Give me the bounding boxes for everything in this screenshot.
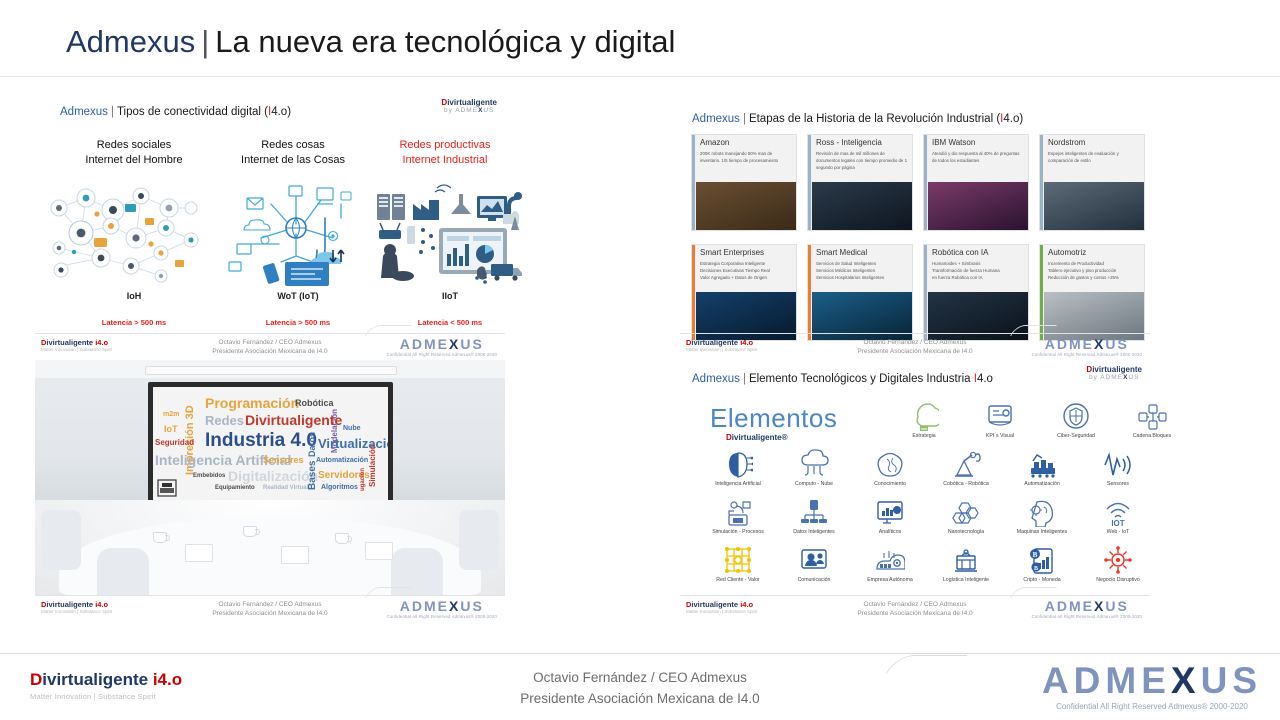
svg-text:IOT: IOT bbox=[1111, 519, 1124, 527]
header-brand: Admexus bbox=[60, 106, 108, 118]
analytics-monitor-icon bbox=[858, 497, 922, 527]
footer-notch bbox=[1010, 325, 1057, 336]
footer-author: Octavio Fernández / CEO Admexus Presiden… bbox=[857, 338, 972, 357]
chair-right bbox=[459, 510, 499, 570]
column-title-iiot: Redes productivas Internet Industrial bbox=[365, 138, 525, 168]
header-text: Etapas de la Historia de la Revolución I… bbox=[749, 113, 1000, 125]
footer-author-line1: Octavio Fernández / CEO Admexus bbox=[520, 668, 759, 689]
col1-line1: Redes cosas bbox=[203, 138, 383, 153]
element-label: Empresa Autónoma bbox=[858, 577, 922, 583]
conference-table bbox=[35, 500, 505, 596]
footer-divirtualigente: Divirtualigente i4.o Matter Innovation |… bbox=[686, 600, 757, 614]
cloud-computing-icon bbox=[799, 449, 829, 479]
pf-brand-rest: ivirtualigente bbox=[46, 338, 95, 347]
card-accent-bar bbox=[808, 135, 811, 230]
data-nodes-icon bbox=[799, 497, 829, 527]
header-text: Tipos de conectividad digital ( bbox=[117, 106, 268, 118]
header-i4-rest: 4.o bbox=[977, 373, 993, 385]
cloud-word: Simulación bbox=[369, 444, 377, 487]
card-title: Smart Enterprises bbox=[700, 249, 793, 258]
element-item[interactable]: Negocio Disruptivo bbox=[1086, 545, 1150, 583]
badge-name: ivirtualigente bbox=[1092, 365, 1142, 374]
chair-front-left bbox=[97, 548, 149, 596]
history-card[interactable]: IBM WatsonAtendió y dio respuesta al 40%… bbox=[924, 135, 1028, 230]
divirtualigente-badge: Divirtualigente by ADMEXUS bbox=[441, 98, 497, 115]
autonomous-factory-icon bbox=[875, 545, 905, 575]
history-card[interactable]: Amazon200K robots manejando 50% mas de i… bbox=[692, 135, 796, 230]
element-item[interactable]: Conocimiento bbox=[858, 449, 922, 487]
header-separator: | bbox=[108, 106, 117, 118]
smart-machine-head-icon bbox=[1027, 497, 1057, 527]
signal-wave-icon bbox=[1103, 449, 1133, 479]
cloud-word: Embebidos bbox=[193, 473, 225, 479]
footer-admexus-logo: ADMEXUS Confidential All Right Reserved … bbox=[1032, 598, 1142, 619]
industrial-iot-diagram bbox=[373, 178, 523, 286]
pf-confidential: Confidential All Right Reserved Admexus®… bbox=[1032, 352, 1142, 357]
card-body: Estrategia Corporativa InteligenteDecisi… bbox=[700, 261, 793, 281]
element-label: Maquinas Inteligentes bbox=[1010, 529, 1074, 535]
latency-ioh: Latencia > 500 ms bbox=[49, 318, 219, 327]
pf-brand-i4: i4.o bbox=[740, 338, 753, 347]
blockchain-icon bbox=[1120, 401, 1184, 431]
footer-logo-pre: ADME bbox=[1042, 660, 1171, 701]
pf-logo-x: X bbox=[1094, 336, 1105, 352]
cloud-word: Digitalización bbox=[228, 469, 318, 483]
brain-bulb-icon bbox=[909, 401, 939, 431]
title-separator: | bbox=[195, 24, 215, 59]
card-body: Incremento de ProductividadTablero ejecu… bbox=[1048, 261, 1141, 281]
footer-author: Octavio Fernández / CEO Admexus Presiden… bbox=[212, 338, 327, 357]
light-bar bbox=[145, 366, 397, 375]
header-brand: Admexus bbox=[692, 113, 740, 125]
element-label: Inteligencia Artificial bbox=[706, 481, 770, 487]
robot-arm-icon bbox=[934, 449, 998, 479]
robot-arm-icon bbox=[951, 449, 981, 479]
notepad-1 bbox=[185, 544, 213, 562]
cup-1 bbox=[153, 532, 167, 543]
panel-history: Admexus|Etapas de la Historia de la Revo… bbox=[680, 105, 1150, 360]
screen-content: Impresión 3DProgramaciónRobóticaModelaci… bbox=[153, 387, 388, 501]
card-body: Atendió y dio respuesta al 40% de pregun… bbox=[932, 151, 1025, 165]
card-accent-bar bbox=[1040, 135, 1043, 230]
word-cloud: Impresión 3DProgramaciónRobóticaModelaci… bbox=[153, 387, 388, 501]
footer-brand-i4: i4.o bbox=[153, 670, 182, 689]
element-item[interactable]: Red Cliente - Valor bbox=[706, 545, 770, 583]
pf-brand-rest: ivirtualigente bbox=[691, 338, 740, 347]
panel-presentation-footer: Divirtualigente i4.o Matter Innovation |… bbox=[35, 595, 505, 622]
element-label: Cobótica - Robótica bbox=[934, 481, 998, 487]
svg-text:B: B bbox=[1033, 551, 1038, 559]
header-separator: | bbox=[740, 373, 749, 385]
ai-brain-icon bbox=[706, 449, 770, 479]
video-call-icon bbox=[799, 545, 829, 575]
pf-brand-i4: i4.o bbox=[95, 600, 108, 609]
element-item[interactable]: Automatización bbox=[1010, 449, 1074, 487]
pf-brand-i4: i4.o bbox=[95, 338, 108, 347]
element-item[interactable]: Inteligencia Artificial bbox=[706, 449, 770, 487]
pf-confidential: Confidential All Right Reserved Admexus®… bbox=[387, 614, 497, 619]
badge-us: US bbox=[483, 107, 494, 114]
svg-text:B: B bbox=[1034, 566, 1038, 572]
card-title: Ross - Inteligencia bbox=[816, 139, 909, 148]
cup-3 bbox=[335, 533, 349, 544]
footer-admexus-logo: ADMEXUS Confidential All Right Reserved … bbox=[1042, 662, 1262, 711]
element-label: Estrategia bbox=[892, 433, 956, 439]
element-item[interactable]: Estrategia bbox=[892, 401, 956, 439]
element-label: Simulación - Procesos bbox=[706, 529, 770, 535]
cloud-computing-icon bbox=[782, 449, 846, 479]
column-title-ioh: Redes sociales Internet del Hombre bbox=[49, 138, 219, 168]
card-body: Espejos inteligentes de evaluación y com… bbox=[1048, 151, 1141, 165]
card-title: Amazon bbox=[700, 139, 793, 148]
pf-tagline: Matter Innovation | Substance Spirit bbox=[686, 609, 757, 614]
element-label: Conocimiento bbox=[858, 481, 922, 487]
element-item[interactable]: Ciber-Seguridad bbox=[1044, 401, 1108, 439]
element-item[interactable]: BBCripto - Moneda bbox=[1010, 545, 1074, 583]
panel-connectivity-footer: Divirtualigente i4.o Matter Innovation |… bbox=[35, 333, 505, 360]
card-accent-bar bbox=[808, 245, 811, 340]
panel-history-footer: Divirtualigente i4.o Matter Innovation |… bbox=[680, 333, 1150, 360]
card-title: Robótica con IA bbox=[932, 249, 1025, 258]
shield-circle-icon bbox=[1061, 401, 1091, 431]
footer-divirtualigente: Divirtualigente i4.o Matter Innovation |… bbox=[41, 338, 112, 352]
badge-us: US bbox=[1128, 374, 1139, 381]
element-label: Ciber-Seguridad bbox=[1044, 433, 1108, 439]
element-label: Computo - Nube bbox=[782, 481, 846, 487]
footer-author: Octavio Fernández / CEO Admexus Presiden… bbox=[212, 600, 327, 619]
pf-author-line2: Presidente Asociación Mexicana de I4.0 bbox=[212, 347, 327, 356]
crypto-coin-icon: BB bbox=[1027, 545, 1057, 575]
iot-graphic bbox=[221, 178, 371, 286]
element-label: Analíticos bbox=[858, 529, 922, 535]
card-title: Smart Medical bbox=[816, 249, 909, 258]
footer-notch bbox=[1010, 587, 1057, 598]
footer-confidential: Confidential All Right Reserved Admexus®… bbox=[1042, 702, 1262, 711]
element-item[interactable]: Datos Inteligentes bbox=[782, 497, 846, 535]
analytics-monitor-icon bbox=[875, 497, 905, 527]
card-accent-bar bbox=[692, 245, 695, 340]
badge-by: by ADME bbox=[444, 107, 478, 114]
element-item[interactable]: IOTWeb - IoT bbox=[1086, 497, 1150, 535]
badge-name: ivirtualigente bbox=[447, 98, 497, 107]
card-accent-bar bbox=[924, 245, 927, 340]
card-accent-bar bbox=[692, 135, 695, 230]
element-item[interactable]: Comunicación bbox=[782, 545, 846, 583]
blockchain-icon bbox=[1137, 401, 1167, 431]
page-title: Admexus|La nueva era tecnológica y digit… bbox=[66, 20, 675, 64]
data-nodes-icon bbox=[782, 497, 846, 527]
title-divider bbox=[0, 76, 1280, 77]
projection-screen: Impresión 3DProgramaciónRobóticaModelaci… bbox=[148, 382, 393, 506]
pf-author-line1: Octavio Fernández / CEO Admexus bbox=[212, 600, 327, 609]
card-image bbox=[928, 182, 1028, 230]
header-close-paren: ) bbox=[1019, 113, 1023, 125]
smart-machine-head-icon bbox=[1010, 497, 1074, 527]
knowledge-brain-icon bbox=[875, 449, 905, 479]
footer-divirtualigente: Divirtualigente i4.o Matter Innovation |… bbox=[41, 600, 112, 614]
cloud-word: Realidad Virtual bbox=[263, 485, 308, 491]
pf-logo-pre: ADME bbox=[1045, 336, 1094, 352]
history-card[interactable]: Smart MedicalServicios de Salud Intelige… bbox=[808, 245, 912, 340]
sub-rest: ivirtualigente® bbox=[732, 433, 788, 442]
element-item[interactable]: Maquinas Inteligentes bbox=[1010, 497, 1074, 535]
title-subtitle: La nueva era tecnológica y digital bbox=[215, 24, 675, 59]
notepad-3 bbox=[365, 542, 393, 560]
cloud-word: Robótica bbox=[295, 399, 334, 408]
signal-wave-icon bbox=[1086, 449, 1150, 479]
footer-tagline: Matter Innovation | Substance Spirit bbox=[30, 693, 182, 702]
element-label: Negocio Disruptivo bbox=[1086, 577, 1150, 583]
header-brand: Admexus bbox=[692, 373, 740, 385]
cloud-word: Datos bbox=[308, 432, 317, 457]
card-body: Servicios de Salud InteligentesServicios… bbox=[816, 261, 909, 281]
card-image bbox=[696, 182, 796, 230]
pf-author-line2: Presidente Asociación Mexicana de I4.0 bbox=[212, 609, 327, 618]
panel-elements-header: Admexus|Elemento Tecnológicos y Digitale… bbox=[692, 373, 993, 385]
footer-logo-post: US bbox=[1201, 660, 1262, 701]
pf-author-line2: Presidente Asociación Mexicana de I4.0 bbox=[857, 347, 972, 356]
element-label: Red Cliente - Valor bbox=[706, 577, 770, 583]
pf-brand-rest: ivirtualigente bbox=[46, 600, 95, 609]
conference-room-image: Impresión 3DProgramaciónRobóticaModelaci… bbox=[35, 360, 505, 596]
card-title: IBM Watson bbox=[932, 139, 1025, 148]
panel-elements-footer: Divirtualigente i4.o Matter Innovation |… bbox=[680, 595, 1150, 622]
social-network-diagram bbox=[41, 178, 211, 286]
header-close-paren: ) bbox=[287, 106, 291, 118]
iot-diagram bbox=[221, 178, 371, 286]
pf-logo-pre: ADME bbox=[400, 598, 449, 614]
footer-admexus-logo: ADMEXUS Confidential All Right Reserved … bbox=[387, 336, 497, 357]
pf-logo-post: US bbox=[1105, 336, 1128, 352]
cloud-word: Algoritmos bbox=[321, 484, 358, 491]
customer-network-icon bbox=[723, 545, 753, 575]
label-ioh: IoH bbox=[49, 291, 219, 301]
card-body: Humanoides + SimbiosisTransformación de … bbox=[932, 261, 1025, 281]
pf-confidential: Confidential All Right Reserved Admexus®… bbox=[387, 352, 497, 357]
history-card[interactable]: Ross - InteligenciaRevisión de mas de mi… bbox=[808, 135, 912, 230]
smart-logistics-icon bbox=[934, 545, 998, 575]
elementos-subbrand: Divirtualigente® bbox=[726, 433, 787, 442]
col0-line2: Internet del Hombre bbox=[49, 153, 219, 168]
pf-tagline: Matter Innovation | Substance Spirit bbox=[686, 347, 757, 352]
card-image bbox=[812, 182, 912, 230]
slide-footer: Divirtualigente i4.o Matter Innovation |… bbox=[0, 653, 1280, 720]
pf-logo-post: US bbox=[1105, 598, 1128, 614]
cloud-word: Bases bbox=[308, 461, 318, 490]
card-title: Nordstrom bbox=[1048, 139, 1141, 148]
disruptive-gear-icon bbox=[1103, 545, 1133, 575]
badge-by: by ADME bbox=[1089, 374, 1123, 381]
brain-bulb-icon bbox=[892, 401, 956, 431]
pf-author-line1: Octavio Fernández / CEO Admexus bbox=[857, 338, 972, 347]
element-label: Web - IoT bbox=[1086, 529, 1150, 535]
col2-line2: Internet Industrial bbox=[365, 153, 525, 168]
history-card[interactable]: NordstromEspejos inteligentes de evaluac… bbox=[1040, 135, 1144, 230]
cloud-word: Redes bbox=[205, 414, 244, 427]
slide: Admexus|La nueva era tecnológica y digit… bbox=[0, 0, 1280, 720]
pf-author-line2: Presidente Asociación Mexicana de I4.0 bbox=[857, 609, 972, 618]
cloud-word: Sensores bbox=[263, 456, 304, 465]
label-iiot: IIoT bbox=[375, 291, 525, 301]
header-text: Elemento Tecnológicos y Digitales Indust… bbox=[749, 373, 974, 385]
element-label: Datos Inteligentes bbox=[782, 529, 846, 535]
footer-notch bbox=[886, 655, 968, 674]
footer-divirtualigente-logo: Divirtualigente i4.o Matter Innovation |… bbox=[30, 670, 182, 701]
latency-wot: Latencia > 500 ms bbox=[213, 318, 383, 327]
element-item[interactable]: Simulación - Procesos bbox=[706, 497, 770, 535]
footer-divirtualigente: Divirtualigente i4.o Matter Innovation |… bbox=[686, 338, 757, 352]
element-item[interactable]: Cobótica - Robótica bbox=[934, 449, 998, 487]
header-i4-rest: 4.o bbox=[1003, 113, 1019, 125]
footer-logo-x: X bbox=[1171, 660, 1201, 701]
shield-circle-icon bbox=[1044, 401, 1108, 431]
footer-author: Octavio Fernández / CEO Admexus Presiden… bbox=[857, 600, 972, 619]
autonomous-factory-icon bbox=[858, 545, 922, 575]
pf-logo-post: US bbox=[460, 336, 483, 352]
pf-confidential: Confidential All Right Reserved Admexus®… bbox=[1032, 614, 1142, 619]
smart-logistics-icon bbox=[951, 545, 981, 575]
pf-author-line1: Octavio Fernández / CEO Admexus bbox=[212, 338, 327, 347]
col0-line1: Redes sociales bbox=[49, 138, 219, 153]
automation-line-icon bbox=[1027, 449, 1057, 479]
element-label: KPI´s Visual bbox=[968, 433, 1032, 439]
element-item[interactable]: Logística Inteligente bbox=[934, 545, 998, 583]
cloud-word: Industria 4.0 bbox=[205, 431, 317, 450]
label-wot: WoT (IoT) bbox=[213, 291, 383, 301]
pf-logo-x: X bbox=[449, 598, 460, 614]
pf-tagline: Matter Innovation | Substance Spirit bbox=[41, 609, 112, 614]
element-item[interactable]: KPI´s Visual bbox=[968, 401, 1032, 439]
cloud-word: m2m bbox=[163, 411, 179, 418]
pf-brand-i4: i4.o bbox=[740, 600, 753, 609]
nanotech-icon bbox=[934, 497, 998, 527]
pf-brand-rest: ivirtualigente bbox=[691, 600, 740, 609]
cloud-word: Equipamiento bbox=[215, 485, 255, 491]
element-label: Cripto - Moneda bbox=[1010, 577, 1074, 583]
simulation-icon bbox=[723, 497, 753, 527]
chair-left bbox=[41, 510, 81, 570]
customer-network-icon bbox=[706, 545, 770, 575]
ai-brain-icon bbox=[723, 449, 753, 479]
cloud-word: Seguridad bbox=[155, 439, 194, 447]
iot-wifi-icon: IOT bbox=[1086, 497, 1150, 527]
automation-line-icon bbox=[1010, 449, 1074, 479]
social-network-graphic bbox=[41, 178, 211, 286]
card-body: 200K robots manejando 50% mas de inventa… bbox=[700, 151, 793, 165]
card-title: Automotriz bbox=[1048, 249, 1141, 258]
cloud-word: Nube bbox=[343, 425, 361, 432]
element-label: Logística Inteligente bbox=[934, 577, 998, 583]
cloud-word: Automatización bbox=[316, 457, 368, 464]
element-item[interactable]: Cadena Bloques bbox=[1120, 401, 1184, 439]
footer-author: Octavio Fernández / CEO Admexus Presiden… bbox=[520, 668, 759, 710]
element-item[interactable]: Nanotecnología bbox=[934, 497, 998, 535]
element-label: Nanotecnología bbox=[934, 529, 998, 535]
cup-2 bbox=[243, 526, 257, 537]
col1-line2: Internet de las Cosas bbox=[203, 153, 383, 168]
card-accent-bar bbox=[924, 135, 927, 230]
footer-brand-d: D bbox=[30, 670, 42, 689]
panel-elements: Admexus|Elemento Tecnológicos y Digitale… bbox=[680, 365, 1150, 622]
element-label: Cadena Bloques bbox=[1120, 433, 1184, 439]
pf-logo-pre: ADME bbox=[400, 336, 449, 352]
element-item[interactable]: Empresa Autónoma bbox=[858, 545, 922, 583]
footer-admexus-logo: ADMEXUS Confidential All Right Reserved … bbox=[1032, 336, 1142, 357]
divirtualigente-badge: Divirtualigente by ADMEXUS bbox=[1086, 365, 1142, 382]
cloud-word: Divirtualigente bbox=[245, 413, 342, 427]
card-image bbox=[1044, 182, 1144, 230]
nanotech-icon bbox=[951, 497, 981, 527]
pf-logo-post: US bbox=[460, 598, 483, 614]
element-label: Automatización bbox=[1010, 481, 1074, 487]
header-separator: | bbox=[740, 113, 749, 125]
industrial-iot-graphic bbox=[373, 178, 523, 286]
cloud-word: ugación bbox=[360, 468, 366, 491]
element-label: Sensores bbox=[1086, 481, 1150, 487]
card-body: Revisión de mas de mil millones de docum… bbox=[816, 151, 909, 171]
footer-author-line2: Presidente Asociación Mexicana de I4.0 bbox=[520, 689, 759, 710]
panel-connectivity-header: Admexus|Tipos de conectividad digital (I… bbox=[60, 106, 291, 118]
dashboard-icon bbox=[968, 401, 1032, 431]
footer-notch bbox=[365, 325, 412, 336]
panel-connectivity: Admexus|Tipos de conectividad digital (I… bbox=[35, 96, 505, 360]
crypto-coin-icon: BB bbox=[1010, 545, 1074, 575]
dashboard-icon bbox=[985, 401, 1015, 431]
header-i4-rest: 4.o bbox=[271, 106, 287, 118]
element-item[interactable]: Analíticos bbox=[858, 497, 922, 535]
panel-presentation-photo: Impresión 3DProgramaciónRobóticaModelaci… bbox=[35, 360, 505, 622]
cloud-word: IoT bbox=[164, 425, 178, 434]
history-card[interactable]: Robótica con IAHumanoides + SimbiosisTra… bbox=[924, 245, 1028, 340]
history-card[interactable]: Smart EnterprisesEstrategia Corporativa … bbox=[692, 245, 796, 340]
simulation-icon bbox=[706, 497, 770, 527]
cloud-word: Programación bbox=[205, 396, 299, 410]
element-label: Comunicación bbox=[782, 577, 846, 583]
video-call-icon bbox=[782, 545, 846, 575]
footer-notch bbox=[365, 587, 412, 598]
pf-author-line1: Octavio Fernández / CEO Admexus bbox=[857, 600, 972, 609]
notepad-2 bbox=[281, 546, 309, 564]
panel-history-header: Admexus|Etapas de la Historia de la Revo… bbox=[692, 113, 1023, 125]
printer-icon bbox=[157, 479, 177, 497]
elementos-heading: Elementos bbox=[710, 403, 837, 434]
title-brand: Admexus bbox=[66, 24, 195, 59]
column-title-wot: Redes cosas Internet de las Cosas bbox=[203, 138, 383, 168]
pf-logo-x: X bbox=[449, 336, 460, 352]
element-item[interactable]: Computo - Nube bbox=[782, 449, 846, 487]
pf-logo-x: X bbox=[1094, 598, 1105, 614]
pf-logo-pre: ADME bbox=[1045, 598, 1094, 614]
pf-tagline: Matter Innovation | Substance Spirit bbox=[41, 347, 112, 352]
footer-admexus-logo: ADMEXUS Confidential All Right Reserved … bbox=[387, 598, 497, 619]
col2-line1: Redes productivas bbox=[365, 138, 525, 153]
element-item[interactable]: Sensores bbox=[1086, 449, 1150, 487]
cloud-word: Virtualización bbox=[318, 437, 388, 450]
iot-wifi-icon: IOT bbox=[1103, 497, 1133, 527]
disruptive-gear-icon bbox=[1086, 545, 1150, 575]
footer-brand-rest: ivirtualigente bbox=[42, 670, 153, 689]
knowledge-brain-icon bbox=[858, 449, 922, 479]
